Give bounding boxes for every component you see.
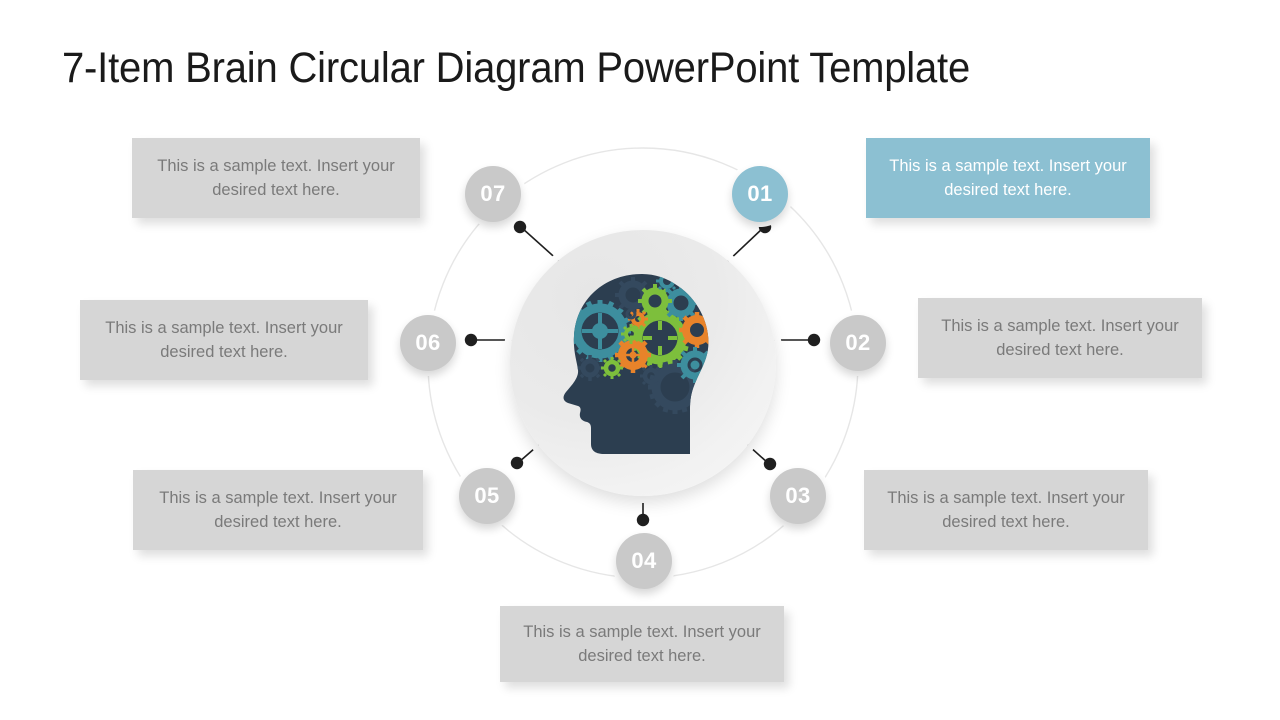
textbox-05-text: This is a sample text. Insert your desir… (155, 486, 401, 534)
node-04[interactable]: 04 (616, 533, 672, 589)
node-01[interactable]: 01 (732, 166, 788, 222)
textbox-07[interactable]: This is a sample text. Insert your desir… (132, 138, 420, 218)
node-label-03: 03 (785, 485, 810, 507)
textbox-02[interactable]: This is a sample text. Insert your desir… (918, 298, 1202, 378)
node-03[interactable]: 03 (770, 468, 826, 524)
node-07[interactable]: 07 (465, 166, 521, 222)
textbox-03-text: This is a sample text. Insert your desir… (886, 486, 1126, 534)
node-label-04: 04 (631, 550, 656, 572)
connector-dot-01 (759, 221, 771, 233)
node-label-05: 05 (474, 485, 499, 507)
textbox-07-text: This is a sample text. Insert your desir… (154, 154, 398, 202)
textbox-05[interactable]: This is a sample text. Insert your desir… (133, 470, 423, 550)
textbox-06-text: This is a sample text. Insert your desir… (102, 316, 346, 364)
node-02[interactable]: 02 (830, 315, 886, 371)
textbox-01[interactable]: This is a sample text. Insert your desir… (866, 138, 1150, 218)
node-05[interactable]: 05 (459, 468, 515, 524)
node-label-06: 06 (415, 332, 440, 354)
node-06[interactable]: 06 (400, 315, 456, 371)
connector-dot-02 (808, 334, 820, 346)
center-disc (510, 230, 776, 496)
connector-dot-05 (511, 457, 523, 469)
slide-canvas: 7-Item Brain Circular Diagram PowerPoint… (0, 0, 1280, 720)
textbox-01-text: This is a sample text. Insert your desir… (888, 154, 1128, 202)
node-label-01: 01 (747, 183, 772, 205)
connector-dot-06 (465, 334, 477, 346)
node-label-07: 07 (480, 183, 505, 205)
connector-dot-07 (514, 221, 526, 233)
textbox-04[interactable]: This is a sample text. Insert your desir… (500, 606, 784, 682)
connector-dot-03 (764, 458, 776, 470)
gear-slate-right-small (696, 380, 716, 400)
node-label-02: 02 (845, 332, 870, 354)
brain-circular-diagram: 01 02 03 04 05 06 07 This is a sample te… (0, 0, 1280, 720)
textbox-02-text: This is a sample text. Insert your desir… (940, 314, 1180, 362)
brain-gears-icon (538, 258, 748, 468)
textbox-04-text: This is a sample text. Insert your desir… (522, 620, 762, 668)
textbox-03[interactable]: This is a sample text. Insert your desir… (864, 470, 1148, 550)
connector-dot-04 (637, 514, 649, 526)
gear-teal-lower-right (677, 347, 713, 383)
textbox-06[interactable]: This is a sample text. Insert your desir… (80, 300, 368, 380)
